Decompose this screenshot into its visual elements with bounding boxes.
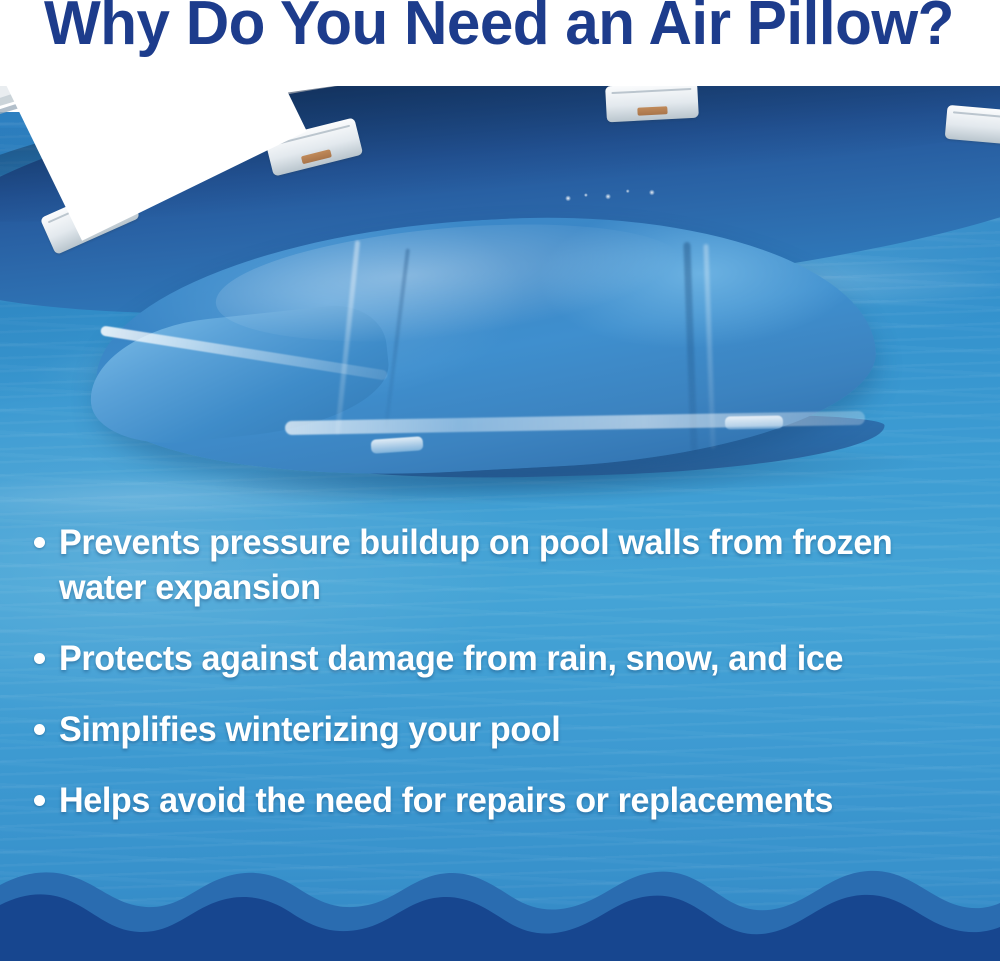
list-item: Helps avoid the need for repairs or repl… [0,778,1000,823]
wave-footer [0,851,1000,961]
rail-connector-plate [605,82,699,123]
page-title: Why Do You Need an Air Pillow? [44,0,954,60]
plate-seam [611,88,691,94]
air-pillow-infographic: Why Do You Need an Air Pillow? Prevents … [0,0,1000,961]
list-item: Simplifies winterizing your pool [0,707,1000,752]
list-item-label: Protects against damage from rain, snow,… [59,636,843,681]
plate-tab [301,149,332,164]
plate-tab [637,106,667,116]
list-item: Protects against damage from rain, snow,… [0,636,1000,681]
wave-graphic [0,851,1000,961]
bullet-dot-icon [34,537,45,548]
air-pillow-grommet-tab [725,415,783,429]
plate-seam [953,111,1000,118]
bullet-dot-icon [34,724,45,735]
list-item: Prevents pressure buildup on pool walls … [0,520,1000,610]
bullet-dot-icon [34,795,45,806]
list-item-label: Helps avoid the need for repairs or repl… [59,778,833,823]
bullet-dot-icon [34,653,45,664]
rail-connector-plate [945,105,1000,145]
benefits-list: Prevents pressure buildup on pool walls … [0,520,1000,849]
list-item-label: Prevents pressure buildup on pool walls … [59,520,937,610]
heading-band: Why Do You Need an Air Pillow? [0,0,1000,62]
list-item-label: Simplifies winterizing your pool [59,707,560,752]
